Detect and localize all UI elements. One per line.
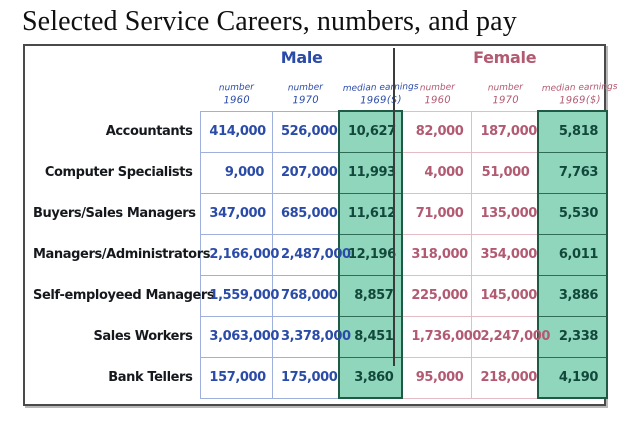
cell-female-number-1970: 187,000 [472,111,538,152]
table-row: Buyers/Sales Managers 347,000 685,000 11… [25,193,607,234]
col-head-line1: number [288,83,323,94]
cell-male-median-earnings: 10,627 [339,111,402,152]
row-label: Self-employeed Managers [25,275,201,316]
cell-female-number-1960: 95,000 [402,357,472,398]
cell-male-number-1970: 768,000 [273,275,339,316]
cell-male-number-1960: 9,000 [201,152,273,193]
col-head-line1: median earnings [343,82,419,94]
column-header-male-number-1960: number 1960 [201,68,273,111]
column-header-male-median-earnings: median earnings 1969($) [339,68,402,111]
cell-female-number-1960: 71,000 [402,193,472,234]
cell-male-number-1970: 175,000 [273,357,339,398]
table-row: Computer Specialists 9,000 207,000 11,99… [25,152,607,193]
table-head: Male Female number 1960 number [25,46,607,111]
cell-female-number-1960: 82,000 [402,111,472,152]
cell-male-number-1970: 685,000 [273,193,339,234]
table-body: Accountants 414,000 526,000 10,627 82,00… [25,111,607,398]
cell-female-number-1970: 51,000 [472,152,538,193]
row-label: Buyers/Sales Managers [25,193,201,234]
row-label: Accountants [25,111,201,152]
cell-male-number-1960: 1,559,000 [201,275,273,316]
cell-female-median-earnings: 7,763 [538,152,607,193]
col-head-line1: median earnings [542,82,618,94]
cell-male-median-earnings: 3,860 [339,357,402,398]
col-head-line1: number [419,83,454,94]
col-head-line2: 1969($) [343,93,419,108]
cell-female-median-earnings: 5,530 [538,193,607,234]
cell-male-median-earnings: 11,993 [339,152,402,193]
col-head-line1: number [487,83,522,94]
group-header-row: Male Female [25,46,607,68]
careers-table: Male Female number 1960 number [25,46,608,399]
group-header-male: Male [201,46,402,68]
cell-female-median-earnings: 6,011 [538,234,607,275]
group-header-female: Female [402,46,607,68]
cell-male-number-1970: 207,000 [273,152,339,193]
col-head-line2: 1960 [219,94,254,108]
cell-female-number-1970: 218,000 [472,357,538,398]
column-header-rowlabel [25,68,201,111]
table-row: Self-employeed Managers 1,559,000 768,00… [25,275,607,316]
cell-female-number-1970: 145,000 [472,275,538,316]
cell-male-number-1970: 3,378,000 [273,316,339,357]
column-header-row: number 1960 number 1970 median earnings … [25,68,607,111]
row-label: Computer Specialists [25,152,201,193]
cell-male-number-1960: 157,000 [201,357,273,398]
cell-female-median-earnings: 4,190 [538,357,607,398]
cell-female-number-1970: 135,000 [472,193,538,234]
cell-female-number-1960: 318,000 [402,234,472,275]
col-head-line1: number [219,83,254,94]
row-label: Bank Tellers [25,357,201,398]
cell-female-number-1960: 4,000 [402,152,472,193]
cell-male-number-1970: 526,000 [273,111,339,152]
column-header-female-number-1970: number 1970 [472,68,538,111]
table-row: Accountants 414,000 526,000 10,627 82,00… [25,111,607,152]
cell-female-number-1970: 354,000 [472,234,538,275]
cell-male-number-1960: 414,000 [201,111,273,152]
group-label-female: Female [473,48,536,67]
cell-male-median-earnings: 8,857 [339,275,402,316]
table-row: Bank Tellers 157,000 175,000 3,860 95,00… [25,357,607,398]
table-row: Managers/Administrators 2,166,000 2,487,… [25,234,607,275]
group-header-spacer [25,46,201,68]
row-label: Managers/Administrators [25,234,201,275]
page-title: Selected Service Careers, numbers, and p… [22,6,517,38]
row-label: Sales Workers [25,316,201,357]
table-row: Sales Workers 3,063,000 3,378,000 8,451 … [25,316,607,357]
cell-male-median-earnings: 12,196 [339,234,402,275]
col-head-line2: 1969($) [542,93,618,108]
cell-male-median-earnings: 11,612 [339,193,402,234]
cell-male-number-1960: 2,166,000 [201,234,273,275]
cell-female-number-1960: 1,736,000 [402,316,472,357]
group-label-male: Male [281,48,323,67]
cell-female-number-1960: 225,000 [402,275,472,316]
col-head-line2: 1960 [420,94,455,108]
table-frame: Male Female number 1960 number [23,44,606,406]
cell-female-median-earnings: 3,886 [538,275,607,316]
col-head-line2: 1970 [488,94,523,108]
cell-male-number-1970: 2,487,000 [273,234,339,275]
cell-male-number-1960: 3,063,000 [201,316,273,357]
column-header-female-median-earnings: median earnings 1969($) [538,68,607,111]
col-head-line2: 1970 [288,94,323,108]
cell-male-number-1960: 347,000 [201,193,273,234]
column-header-male-number-1970: number 1970 [273,68,339,111]
cell-female-median-earnings: 5,818 [538,111,607,152]
cell-female-number-1970: 2,247,000 [472,316,538,357]
